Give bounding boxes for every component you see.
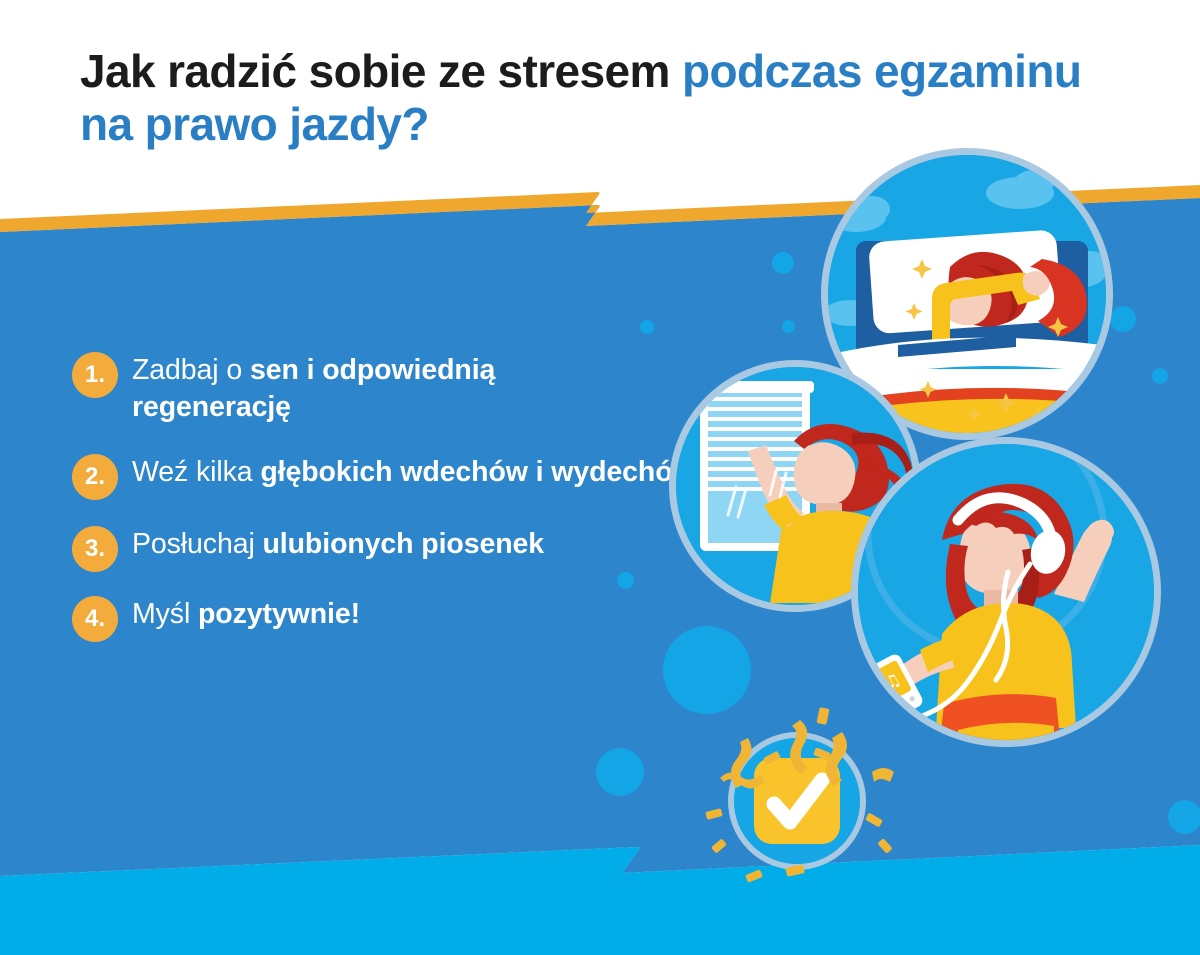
tip-bold-text: głębokich wdechów i wydechów (260, 456, 694, 488)
decorative-dot (640, 320, 654, 334)
tip-plain-text: Zadbaj o (132, 354, 250, 386)
list-item: 1. Zadbaj o sen i odpowiednią regeneracj… (72, 350, 702, 426)
list-number-badge: 1. (72, 352, 118, 398)
list-item-text: Weź kilka głębokich wdechów i wydechów (132, 452, 695, 491)
list-number-badge: 3. (72, 526, 118, 572)
tip-plain-text: Weź kilka (132, 456, 260, 488)
list-item-text: Myśl pozytywnie! (132, 594, 360, 633)
tip-plain-text: Myśl (132, 598, 198, 630)
list-item: 3. Posłuchaj ulubionych piosenek (72, 524, 702, 572)
list-number-badge: 2. (72, 454, 118, 500)
list-item-text: Posłuchaj ulubionych piosenek (132, 524, 544, 563)
tip-bold-text: ulubionych piosenek (263, 528, 545, 560)
decorative-dot (1168, 800, 1200, 834)
decorative-dot (772, 252, 794, 274)
title-black-text: Jak radzić sobie ze stresem (80, 45, 682, 97)
decorative-dot (782, 320, 795, 333)
decorative-dot (596, 748, 644, 796)
list-item-text: Zadbaj o sen i odpowiednią regenerację (132, 350, 652, 426)
tips-list: 1. Zadbaj o sen i odpowiednią regeneracj… (72, 350, 702, 668)
infographic-poster: Jak radzić sobie ze stresem podczas egza… (0, 0, 1200, 955)
list-item: 4. Myśl pozytywnie! (72, 594, 702, 642)
page-title: Jak radzić sobie ze stresem podczas egza… (80, 45, 1140, 152)
tip-plain-text: Posłuchaj (132, 528, 263, 560)
decorative-dot (1110, 306, 1136, 332)
confetti-decoration (690, 690, 920, 890)
list-number-badge: 4. (72, 596, 118, 642)
tip-bold-text: pozytywnie! (198, 598, 360, 630)
decorative-dot (1152, 368, 1168, 384)
list-item: 2. Weź kilka głębokich wdechów i wydechó… (72, 452, 702, 500)
